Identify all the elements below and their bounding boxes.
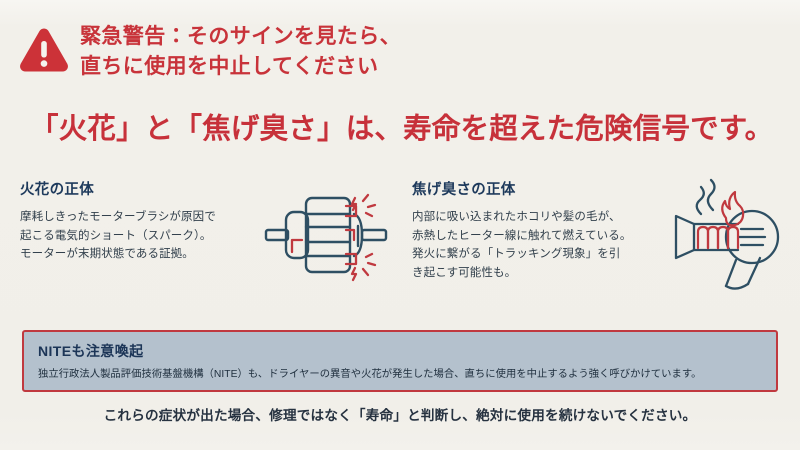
alert-text-block: 緊急警告：そのサインを見たら、 直ちに使用を中止してください — [80, 22, 401, 82]
section-spark-body-line-1: 摩耗しきったモーターブラシが原因で — [20, 208, 255, 227]
section-burning-smell-body-line-2: 赤熱したヒーター線に触れて燃えている。 — [412, 227, 660, 246]
section-spark-body-line-2: 起こる電気的ショート（スパーク）。 — [20, 227, 255, 246]
nite-callout-body: 独立行政法人製品評価技術基盤機構（NITE）も、ドライヤーの異音や火花が発生した… — [38, 368, 762, 381]
nite-callout-box: NITEも注意喚起 独立行政法人製品評価技術基盤機構（NITE）も、ドライヤーの… — [22, 330, 778, 392]
warning-triangle-icon — [18, 24, 70, 76]
section-spark: 火花の正体 摩耗しきったモーターブラシが原因で 起こる電気的ショート（スパーク）… — [20, 178, 255, 264]
section-spark-title: 火花の正体 — [20, 178, 255, 199]
alert-line-1: 緊急警告：そのサインを見たら、 — [80, 22, 401, 52]
nite-callout-title: NITEも注意喚起 — [38, 341, 762, 361]
alert-header: 緊急警告：そのサインを見たら、 直ちに使用を中止してください — [18, 22, 778, 82]
motor-armature-spark-icon — [262, 182, 394, 288]
section-burning-smell-title: 焦げ臭さの正体 — [412, 178, 660, 199]
section-burning-smell: 焦げ臭さの正体 内部に吸い込まれたホコリや髪の毛が、 赤熱したヒーター線に触れて… — [412, 178, 660, 283]
section-spark-body: 摩耗しきったモーターブラシが原因で 起こる電気的ショート（スパーク）。 モーター… — [20, 208, 255, 264]
page-title: 「火花」と「焦げ臭さ」は、寿命を超えた危険信号です。 — [30, 112, 775, 146]
hair-dryer-fire-icon — [668, 174, 786, 290]
closing-statement: これらの症状が出た場合、修理ではなく「寿命」と判断し、絶対に使用を続けないでくだ… — [0, 404, 800, 424]
section-burning-smell-body-line-4: き起こす可能性も。 — [412, 264, 660, 283]
slide-canvas: 緊急警告：そのサインを見たら、 直ちに使用を中止してください 「火花」と「焦げ臭… — [0, 0, 800, 450]
alert-line-2: 直ちに使用を中止してください — [80, 52, 401, 82]
section-burning-smell-body-line-3: 発火に繋がる「トラッキング現象」を引 — [412, 245, 660, 264]
section-spark-body-line-3: モーターが末期状態である証拠。 — [20, 245, 255, 264]
section-burning-smell-body-line-1: 内部に吸い込まれたホコリや髪の毛が、 — [412, 208, 660, 227]
section-burning-smell-body: 内部に吸い込まれたホコリや髪の毛が、 赤熱したヒーター線に触れて燃えている。 発… — [412, 208, 660, 283]
